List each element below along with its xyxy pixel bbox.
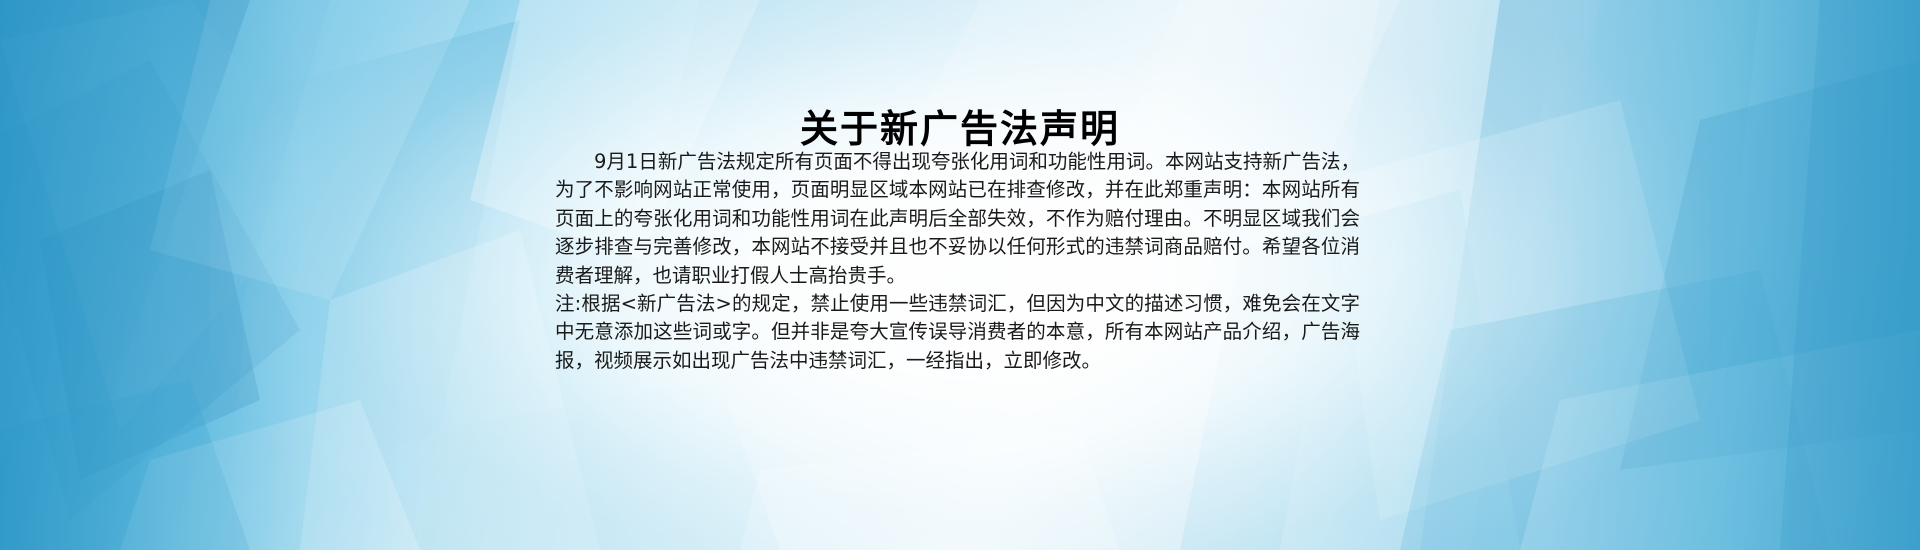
page-title: 关于新广告法声明 [555,107,1365,153]
right-edge-shade [1400,0,1920,550]
statement-paragraph-1: 9月1日新广告法规定所有页面不得出现夸张化用词和功能性用词。本网站支持新广告法，… [555,148,1360,290]
statement-body: 9月1日新广告法规定所有页面不得出现夸张化用词和功能性用词。本网站支持新广告法，… [555,148,1360,375]
statement-paragraph-2: 注:根据<新广告法>的规定，禁止使用一些违禁词汇，但因为中文的描述习惯，难免会在… [555,290,1360,375]
advertising-law-statement-banner: 关于新广告法声明 9月1日新广告法规定所有页面不得出现夸张化用词和功能性用词。本… [0,0,1920,550]
statement-content: 关于新广告法声明 9月1日新广告法规定所有页面不得出现夸张化用词和功能性用词。本… [555,0,1365,550]
left-edge-shade [0,0,420,550]
